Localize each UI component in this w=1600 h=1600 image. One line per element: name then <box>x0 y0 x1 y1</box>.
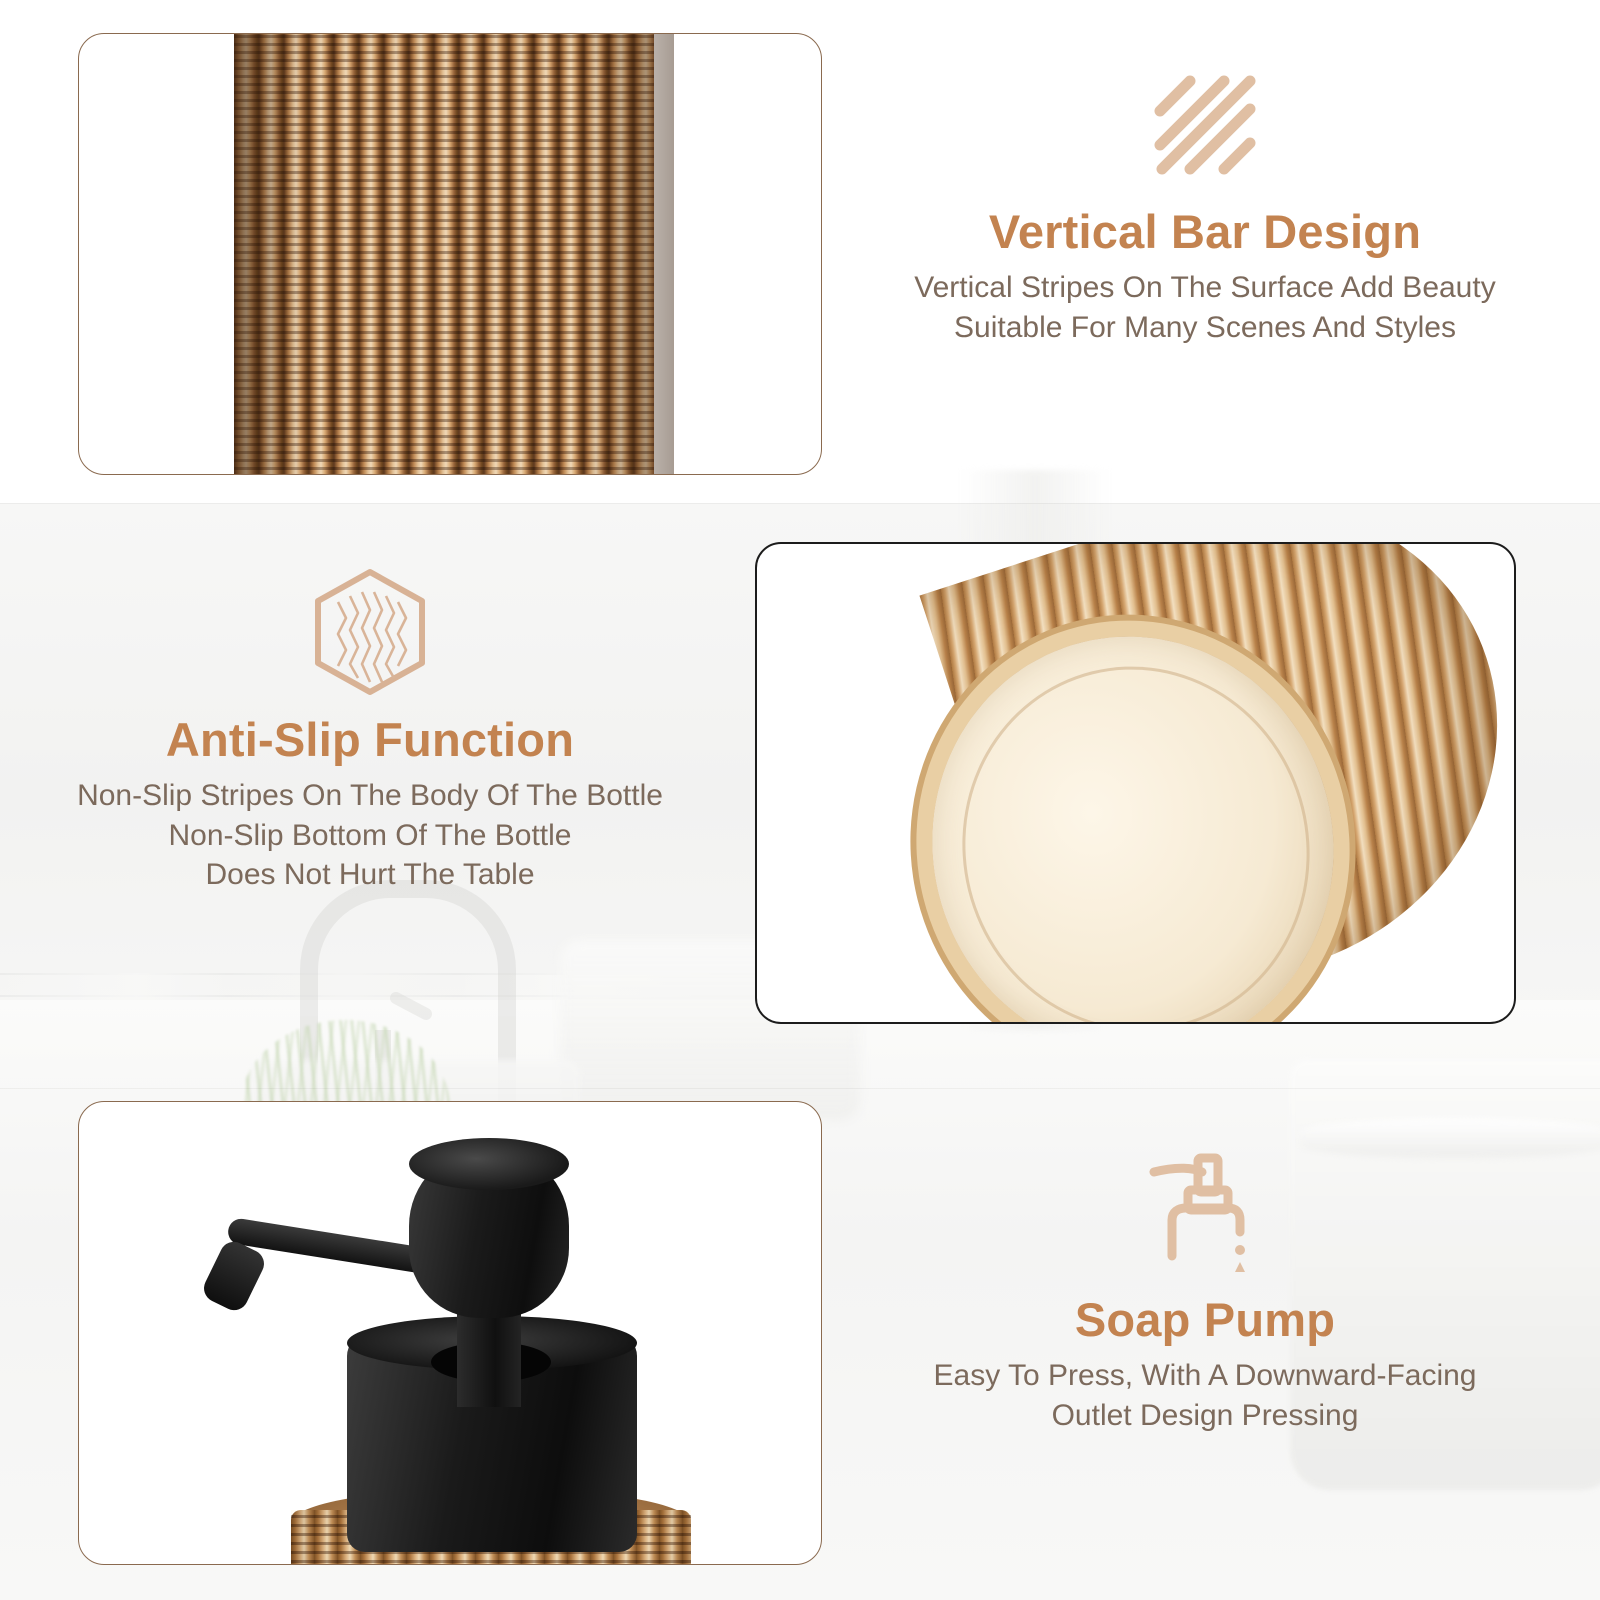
feature-description-line: Non-Slip Bottom Of The Bottle <box>20 816 720 856</box>
pump-cap-top-photo <box>409 1138 569 1190</box>
feature-title: Anti-Slip Function <box>20 714 720 766</box>
feature-description-line: Non-Slip Stripes On The Body Of The Bott… <box>20 776 720 816</box>
feature-description-line: Vertical Stripes On The Surface Add Beau… <box>860 268 1550 308</box>
feature-title: Vertical Bar Design <box>860 206 1550 258</box>
feature-description: Easy To Press, With A Downward-Facing Ou… <box>855 1356 1555 1436</box>
diagonal-stripes-icon <box>860 60 1550 188</box>
photo-panel-anti-slip <box>755 542 1516 1024</box>
feature-description: Non-Slip Stripes On The Body Of The Bott… <box>20 776 720 896</box>
feature-description-line: Outlet Design Pressing <box>855 1396 1555 1436</box>
ribbed-shadow-right <box>579 34 674 474</box>
feature-description-line: Easy To Press, With A Downward-Facing <box>855 1356 1555 1396</box>
feature-anti-slip-function: Anti-Slip Function Non-Slip Stripes On T… <box>20 568 720 895</box>
ribbed-shadow-left <box>234 34 304 474</box>
band-divider-bottom <box>0 1088 1600 1089</box>
photo-panel-soap-pump <box>78 1101 822 1565</box>
feature-title: Soap Pump <box>855 1294 1555 1346</box>
infographic-stage: Vertical Bar Design Vertical Stripes On … <box>0 0 1600 1600</box>
feature-description-line: Does Not Hurt The Table <box>20 855 720 895</box>
feature-vertical-bar-design: Vertical Bar Design Vertical Stripes On … <box>860 60 1550 347</box>
feature-description-line: Suitable For Many Scenes And Styles <box>860 308 1550 348</box>
soap-dispenser-pump-icon <box>855 1148 1555 1276</box>
feature-description: Vertical Stripes On The Surface Add Beau… <box>860 268 1550 348</box>
hexagon-zigzag-texture-icon <box>20 568 720 696</box>
feature-soap-pump: Soap Pump Easy To Press, With A Downward… <box>855 1148 1555 1435</box>
photo-panel-vertical-bar <box>78 33 822 475</box>
band-divider-top <box>0 503 1600 504</box>
pump-spout-tip-photo <box>199 1237 268 1315</box>
